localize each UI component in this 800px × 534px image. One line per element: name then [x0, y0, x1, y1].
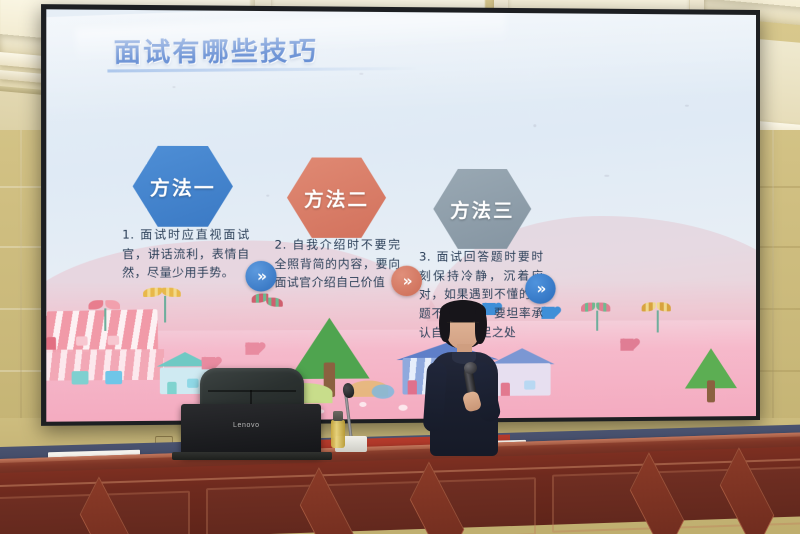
method-badge-1-label: 方法一: [150, 172, 216, 200]
illustration-sprout: [645, 302, 671, 332]
illustration-sprout: [254, 293, 283, 316]
slide-display[interactable]: 面试有哪些技巧 方法一 方法二 方法三 1. 面试时应直视面试官，讲话流利，表情…: [46, 9, 756, 421]
podium-desk: [0, 447, 800, 534]
illustration-sprout: [584, 303, 610, 331]
illustration-heart: [620, 339, 633, 351]
method-badge-1[interactable]: 方法一: [133, 143, 233, 229]
illustration-sprout: [93, 300, 118, 331]
presenter: [412, 300, 516, 470]
water-bottle: [331, 420, 345, 448]
illustration-pebble: [398, 405, 407, 411]
laptop-base: [172, 452, 332, 460]
laptop-brand-label: Lenovo: [233, 422, 260, 429]
method-text-1: 1. 面试时应直视面试官，讲话流利，表情自然，尽量少用手势。: [122, 225, 249, 282]
projection-screen-frame: 面试有哪些技巧 方法一 方法二 方法三 1. 面试时应直视面试官，讲话流利，表情…: [41, 4, 760, 426]
water-bottle-cap: [333, 411, 343, 421]
double-chevron-right-icon: »: [391, 266, 422, 297]
wall-seam-vertical: [20, 70, 22, 470]
method-badge-3-label: 方法三: [450, 195, 514, 222]
illustration-pebble: [359, 402, 366, 407]
double-chevron-right-icon: »: [525, 273, 555, 303]
conference-room-scene: 面试有哪些技巧 方法一 方法二 方法三 1. 面试时应直视面试官，讲话流利，表情…: [0, 0, 800, 534]
glasses-icon: [447, 322, 479, 330]
laptop[interactable]: Lenovo: [181, 404, 321, 456]
illustration-window: [105, 371, 122, 384]
illustration-tree: [685, 348, 737, 402]
illustration-sprout: [149, 288, 180, 323]
method-badge-2[interactable]: 方法二: [287, 155, 386, 241]
method-badge-2-label: 方法二: [304, 184, 369, 212]
illustration-window: [72, 371, 89, 384]
double-chevron-right-icon: »: [245, 261, 276, 292]
illustration-heart: [245, 343, 259, 355]
method-text-2: 2. 自我介绍时不要完全照背简的内容，要向面试官介绍自己价值: [275, 235, 401, 292]
slide-title: 面试有哪些技巧: [113, 30, 318, 69]
illustration-pond: [372, 384, 395, 398]
